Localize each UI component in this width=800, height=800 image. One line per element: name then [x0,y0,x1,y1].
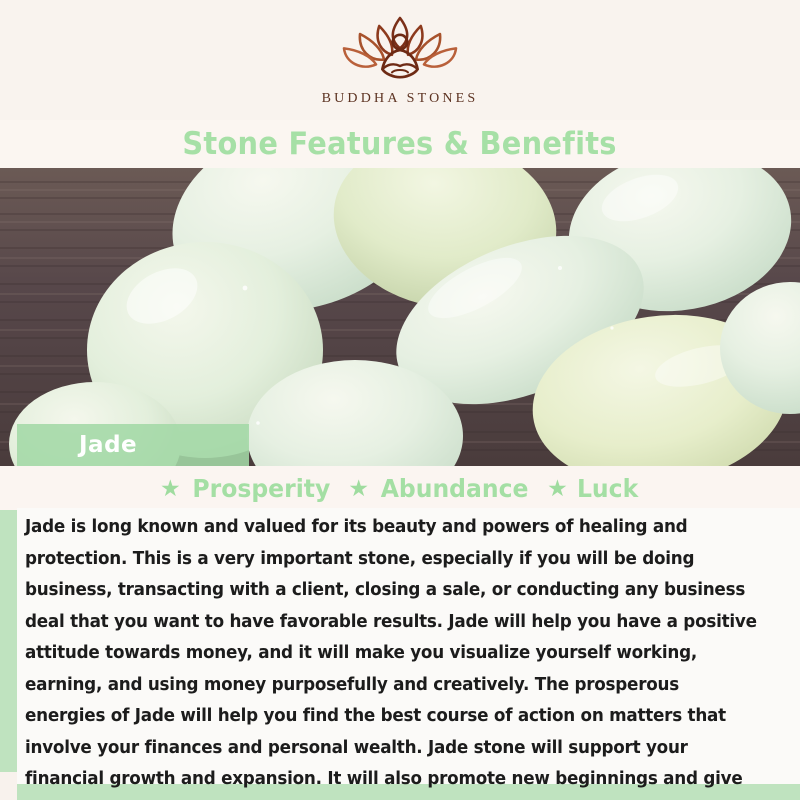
star-icon: ★ [547,477,568,500]
stone-name-label: Jade [79,432,137,458]
benefit-label: Prosperity [192,474,330,503]
benefit-item-abundance: ★ Abundance [348,474,533,503]
star-icon: ★ [160,477,181,500]
benefits-row: ★ Prosperity ★ Abundance ★ Luck [0,466,800,510]
stone-photo: Jade [0,168,800,466]
description-panel: Jade is long known and valued for its be… [17,508,800,784]
brand-header: BUDDHA STONES [0,0,800,120]
benefit-item-luck: ★ Luck [547,474,640,503]
title-banner: Stone Features & Benefits [0,120,800,168]
benefit-item-prosperity: ★ Prosperity [160,474,334,503]
poster-root: BUDDHA STONES Stone Features & Benefits [0,0,800,800]
brand-name: BUDDHA STONES [322,91,479,107]
benefit-label: Abundance [381,474,529,503]
benefit-label: Luck [577,474,638,503]
star-icon: ★ [348,477,369,500]
stone-photo-illustration [0,168,800,466]
lotus-meditation-icon [320,13,480,87]
stone-name-badge: Jade [17,424,249,466]
page-title: Stone Features & Benefits [183,126,617,162]
description-text: Jade is long known and valued for its be… [25,512,759,800]
